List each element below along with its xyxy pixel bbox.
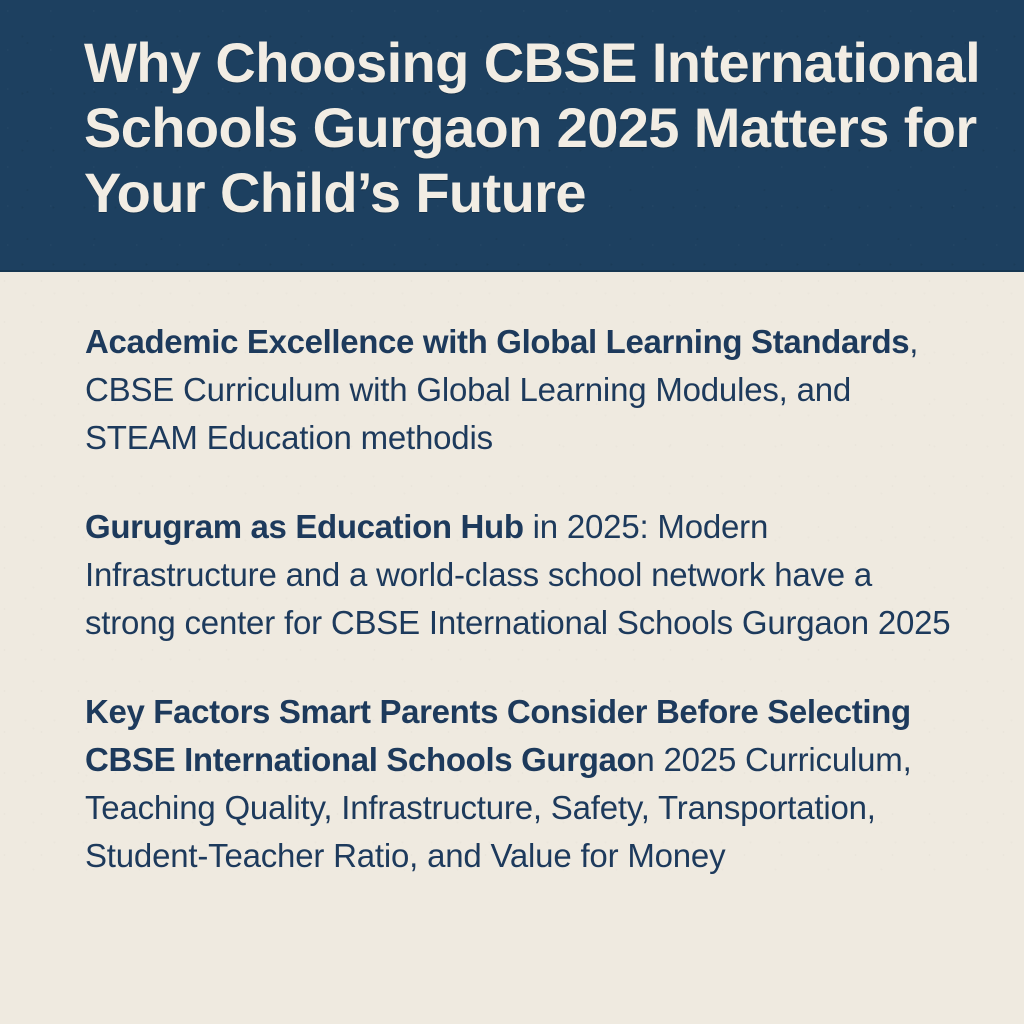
page-title: Why Choosing CBSE International Schools …	[84, 30, 996, 225]
body-content: Academic Excellence with Global Learning…	[0, 272, 1024, 880]
paragraph-lead-gurugram-education-hub: Gurugram as Education Hub	[85, 508, 524, 545]
paragraph-gurugram-education-hub: Gurugram as Education Hub in 2025: Moder…	[85, 503, 960, 647]
paragraph-academic-excellence: Academic Excellence with Global Learning…	[85, 318, 960, 462]
header-band: Why Choosing CBSE International Schools …	[0, 0, 1024, 272]
infographic-card: Why Choosing CBSE International Schools …	[0, 0, 1024, 1024]
paragraph-key-factors: Key Factors Smart Parents Consider Befor…	[85, 688, 960, 880]
paragraph-lead-academic-excellence: Academic Excellence with Global Learning…	[85, 323, 909, 360]
